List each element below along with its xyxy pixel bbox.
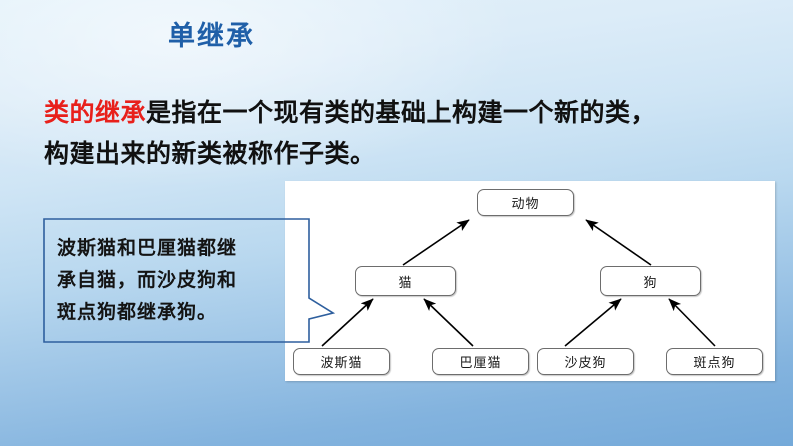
node-dalmatian-dog-label: 斑点狗 bbox=[693, 352, 735, 371]
slide-canvas: 单继承 类的继承是指在一个现有类的基础上构建一个新的类， 构建出来的新类被称作子… bbox=[0, 0, 793, 446]
callout-line-3: 斑点狗都继承狗。 bbox=[57, 296, 305, 328]
callout-line-2: 承自猫，而沙皮狗和 bbox=[57, 264, 305, 296]
node-bali-cat[interactable]: 巴厘猫 bbox=[432, 348, 529, 375]
node-dalmatian-dog[interactable]: 斑点狗 bbox=[666, 348, 763, 375]
body-paragraph: 类的继承是指在一个现有类的基础上构建一个新的类， 构建出来的新类被称作子类。 bbox=[44, 93, 774, 175]
highlight-term: 类的继承 bbox=[44, 99, 146, 127]
callout-line-1: 波斯猫和巴厘猫都继 bbox=[57, 232, 305, 264]
node-dog[interactable]: 狗 bbox=[600, 266, 701, 296]
body-line-2: 构建出来的新类被称作子类。 bbox=[44, 134, 774, 175]
callout-text: 波斯猫和巴厘猫都继 承自猫，而沙皮狗和 斑点狗都继承狗。 bbox=[57, 232, 305, 328]
edge-bali-cat bbox=[424, 299, 473, 346]
inheritance-diagram-panel: 动物 猫 狗 波斯猫 巴厘猫 沙皮狗 斑点狗 bbox=[285, 181, 775, 381]
body-line-1-rest: 是指在一个现有类的基础上构建一个新的类， bbox=[146, 99, 656, 127]
node-shar-pei-dog-label: 沙皮狗 bbox=[564, 352, 606, 371]
page-title: 单继承 bbox=[168, 20, 255, 52]
node-dog-label: 狗 bbox=[643, 272, 657, 291]
node-bali-cat-label: 巴厘猫 bbox=[459, 352, 501, 371]
node-cat[interactable]: 猫 bbox=[355, 266, 456, 296]
node-cat-label: 猫 bbox=[398, 272, 412, 291]
edge-dog-animal bbox=[586, 220, 651, 265]
edge-sharpei-dog bbox=[565, 299, 621, 346]
body-line-1: 类的继承是指在一个现有类的基础上构建一个新的类， bbox=[44, 93, 774, 134]
node-shar-pei-dog[interactable]: 沙皮狗 bbox=[537, 348, 634, 375]
node-persian-cat[interactable]: 波斯猫 bbox=[293, 348, 390, 375]
callout-box[interactable]: 波斯猫和巴厘猫都继 承自猫，而沙皮狗和 斑点狗都继承狗。 bbox=[43, 218, 335, 343]
node-animal[interactable]: 动物 bbox=[477, 189, 574, 216]
edge-dalmatian-dog bbox=[669, 299, 715, 346]
edge-cat-animal bbox=[403, 220, 469, 265]
node-persian-cat-label: 波斯猫 bbox=[320, 352, 362, 371]
node-animal-label: 动物 bbox=[511, 193, 539, 212]
